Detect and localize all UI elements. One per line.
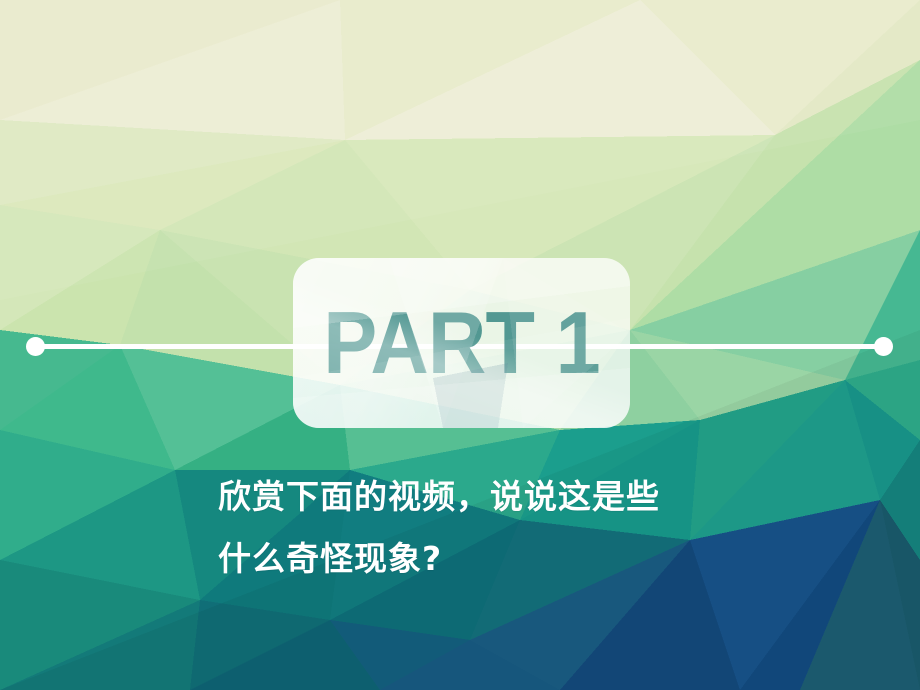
- part-card[interactable]: PART 1: [293, 258, 630, 428]
- slide-root: PART 1 欣赏下面的视频，说说这是些 什么奇怪现象?: [0, 0, 920, 690]
- left-end-dot: [26, 337, 45, 356]
- caption-text: 欣赏下面的视频，说说这是些 什么奇怪现象?: [218, 466, 738, 590]
- right-end-dot: [874, 337, 893, 356]
- part-title: PART 1: [306, 258, 616, 428]
